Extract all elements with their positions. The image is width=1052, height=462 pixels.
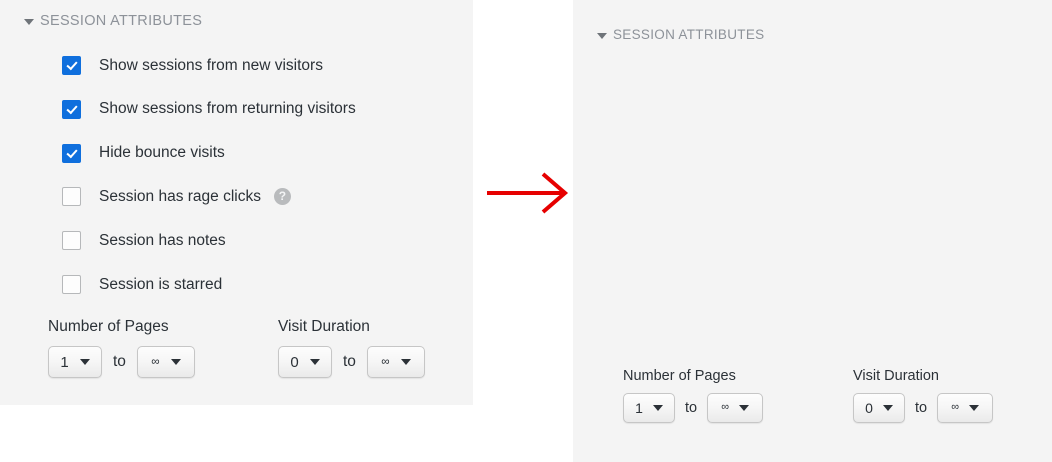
range-to-dropdown-visit-duration[interactable]: ∞ [937,393,993,423]
dropdown-value: 1 [60,354,68,371]
range-from-dropdown-visit-duration[interactable]: 0 [853,393,905,423]
checkbox-show-sessions-from-new-visitors[interactable] [62,56,81,75]
range-controls: 1to∞ [623,393,763,423]
checkbox-row-session-has-notes[interactable]: Session has notes [62,231,226,250]
range-title: Number of Pages [623,368,763,384]
section-header-session-attributes[interactable]: SESSION ATTRIBUTES [597,27,764,42]
dropdown-value: 1 [635,400,643,416]
right-filter-panel: SESSION ATTRIBUTES Show sessions from ne… [573,0,1052,462]
left-filter-panel: SESSION ATTRIBUTES Show sessions from ne… [0,0,473,405]
chevron-down-icon [969,405,979,411]
checkbox-label: Show sessions from returning visitors [99,100,356,118]
range-controls: 0to∞ [278,346,425,378]
range-title: Visit Duration [278,318,425,336]
checkbox-session-has-notes[interactable] [62,231,81,250]
chevron-down-icon [883,405,893,411]
checkbox-label: Hide bounce visits [99,144,225,162]
chevron-down-icon [310,359,320,365]
dropdown-value: ∞ [721,401,729,413]
checkbox-row-hide-bounce-visits[interactable]: Hide bounce visits [62,144,225,163]
checkbox-label: Session has notes [99,232,226,250]
dropdown-value: ∞ [151,355,159,368]
section-title: SESSION ATTRIBUTES [40,13,202,29]
range-group-visit-duration: Visit Duration0to∞ [853,368,993,423]
dropdown-value: 0 [290,354,298,371]
checkbox-show-sessions-from-returning-visitors[interactable] [62,100,81,119]
chevron-down-icon [171,359,181,365]
dropdown-value: 0 [865,400,873,416]
range-to-dropdown-number-of-pages[interactable]: ∞ [137,346,195,378]
range-controls: 0to∞ [853,393,993,423]
range-from-dropdown-visit-duration[interactable]: 0 [278,346,332,378]
range-to-dropdown-visit-duration[interactable]: ∞ [367,346,425,378]
chevron-down-icon [24,19,34,25]
range-to-dropdown-number-of-pages[interactable]: ∞ [707,393,763,423]
range-title: Visit Duration [853,368,993,384]
checkbox-row-show-sessions-from-new-visitors[interactable]: Show sessions from new visitors [62,56,323,75]
checkbox-hide-bounce-visits[interactable] [62,144,81,163]
range-group-number-of-pages: Number of Pages1to∞ [48,318,195,378]
range-group-number-of-pages: Number of Pages1to∞ [623,368,763,423]
checkbox-row-session-is-starred[interactable]: Session is starred [62,275,222,294]
range-to-label: to [685,400,697,416]
dropdown-value: ∞ [381,355,389,368]
section-title: SESSION ATTRIBUTES [613,27,764,42]
right-arrow-icon [485,168,575,218]
dropdown-value: ∞ [951,401,959,413]
checkbox-row-session-has-rage-clicks[interactable]: Session has rage clicks? [62,187,291,206]
checkbox-label: Session is starred [99,276,222,294]
chevron-down-icon [401,359,411,365]
checkbox-session-is-starred[interactable] [62,275,81,294]
range-to-label: to [915,400,927,416]
checkbox-row-show-sessions-from-returning-visitors[interactable]: Show sessions from returning visitors [62,100,356,119]
range-group-visit-duration: Visit Duration0to∞ [278,318,425,378]
chevron-down-icon [597,33,607,39]
range-to-label: to [113,353,126,371]
range-controls: 1to∞ [48,346,195,378]
help-icon[interactable]: ? [274,188,291,205]
checkbox-label: Session has rage clicks [99,188,261,206]
chevron-down-icon [739,405,749,411]
range-title: Number of Pages [48,318,195,336]
checkbox-session-has-rage-clicks[interactable] [62,187,81,206]
chevron-down-icon [653,405,663,411]
range-to-label: to [343,353,356,371]
range-from-dropdown-number-of-pages[interactable]: 1 [623,393,675,423]
section-header-session-attributes[interactable]: SESSION ATTRIBUTES [24,13,202,29]
range-from-dropdown-number-of-pages[interactable]: 1 [48,346,102,378]
chevron-down-icon [80,359,90,365]
checkbox-label: Show sessions from new visitors [99,57,323,75]
